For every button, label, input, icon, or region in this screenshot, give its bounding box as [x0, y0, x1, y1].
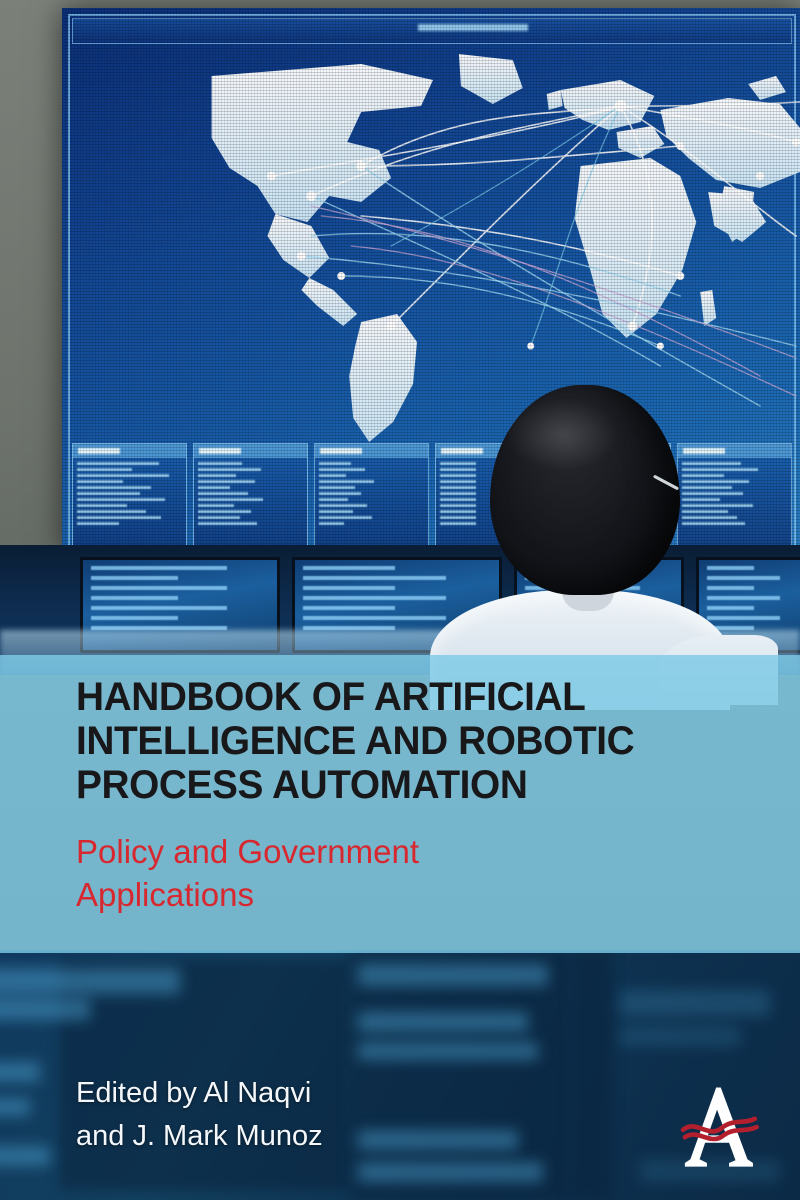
editor-credits: Edited by Al Naqvi and J. Mark Munoz [76, 1072, 323, 1158]
data-panel [314, 443, 429, 547]
data-panel-header [194, 444, 307, 458]
anthem-press-logo [672, 1082, 764, 1174]
data-panel-header [73, 444, 186, 458]
data-panel-rows [198, 462, 303, 543]
data-panel [193, 443, 308, 547]
title-banner: HANDBOOK OF ARTIFICIAL INTELLIGENCE AND … [0, 655, 800, 953]
book-subtitle: Policy and Government Applications [76, 830, 760, 916]
screen-titlebar [72, 18, 792, 44]
data-panel [72, 443, 187, 547]
book-cover: HANDBOOK OF ARTIFICIAL INTELLIGENCE AND … [0, 0, 800, 1200]
data-panel-header [315, 444, 428, 458]
data-panel-rows [319, 462, 424, 543]
screen-titlebar-text-blurred [418, 24, 528, 31]
analyst-hair [490, 385, 680, 595]
analyst-figure [430, 385, 730, 685]
book-title: HANDBOOK OF ARTIFICIAL INTELLIGENCE AND … [76, 675, 739, 807]
data-panel-rows [77, 462, 182, 543]
